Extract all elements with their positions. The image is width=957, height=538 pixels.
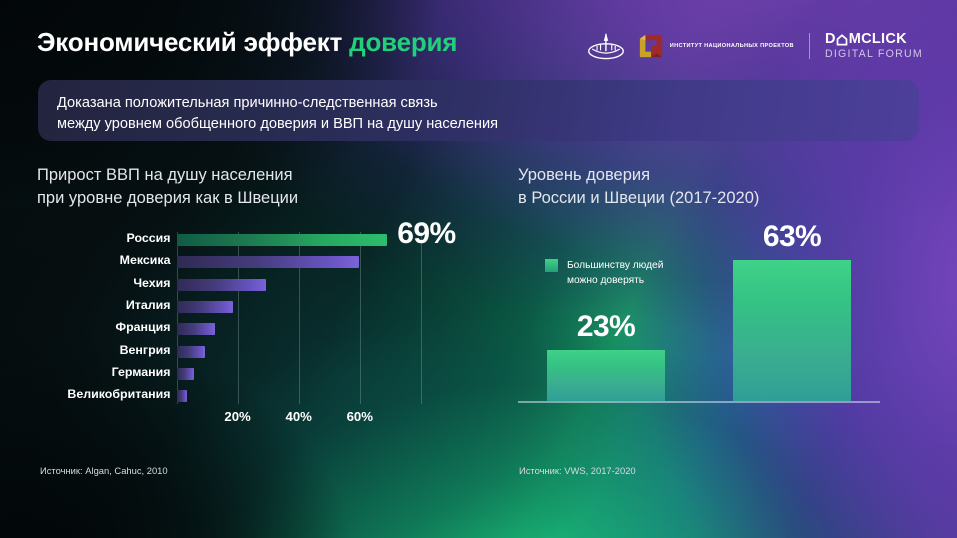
right-chart-source: Источник: VWS, 2017-2020 bbox=[519, 465, 636, 476]
left-chart-source: Источник: Algan, Cahuc, 2010 bbox=[40, 465, 168, 476]
trust-level-bar-chart: 23%Россия63%Швеция Большинству людей мож… bbox=[0, 0, 957, 450]
bar-1 bbox=[733, 260, 851, 401]
legend-swatch-icon bbox=[545, 259, 558, 272]
value-label-0: 23% bbox=[547, 310, 665, 344]
legend-label: Большинству людей можно доверять bbox=[567, 258, 663, 288]
bar-0 bbox=[547, 350, 665, 401]
right-chart-baseline bbox=[518, 401, 880, 403]
value-label-1: 63% bbox=[733, 220, 851, 254]
bar-column-0: 23%Россия bbox=[547, 200, 665, 401]
bar-column-1: 63%Швеция bbox=[733, 200, 851, 401]
trust-chart-legend: Большинству людей можно доверять bbox=[545, 258, 663, 288]
